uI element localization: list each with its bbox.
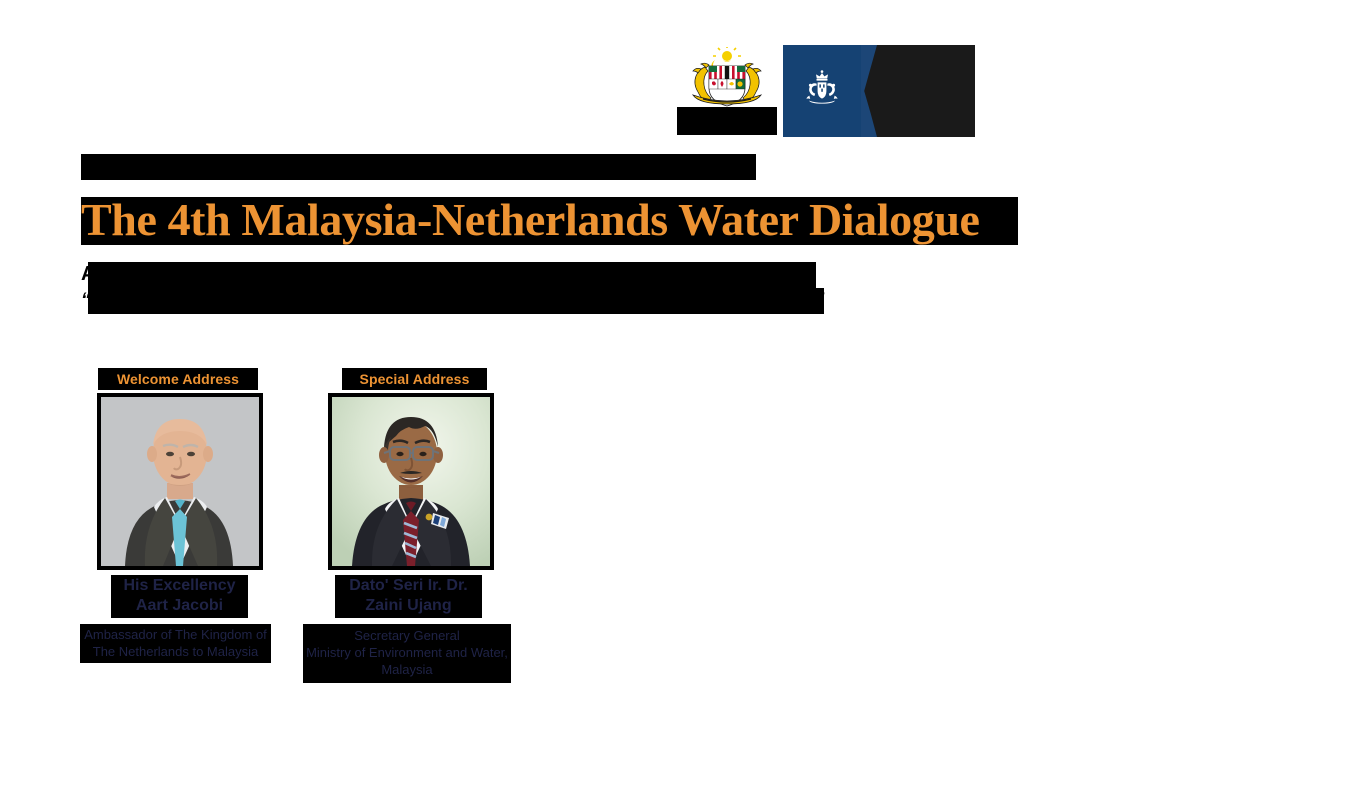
subtitle-line1-redaction [88,262,816,288]
speaker-name-band: Dato' Seri Ir. Dr. Zaini Ujang [335,575,482,618]
role-band: Special Address [342,368,487,390]
subtitle-line1: A [81,263,95,286]
speaker-role-label: Welcome Address [117,371,239,387]
speaker-title: Secretary General Ministry of Environmen… [303,627,511,678]
malaysia-coat-of-arms-logo [671,45,783,137]
speaker-name-band: His Excellency Aart Jacobi [111,575,248,618]
role-band: Welcome Address [98,368,258,390]
malaysia-logo-caption-redaction [677,107,777,135]
netherlands-lions-crest-icon [800,69,844,113]
speaker-title-band: Secretary General Ministry of Environmen… [303,624,511,683]
speaker-name: Dato' Seri Ir. Dr. Zaini Ujang [335,576,482,616]
speaker-title: Ambassador of The Kingdom of The Netherl… [80,626,271,660]
subtitle-line2-open-quote: “ [81,290,91,312]
event-poster: The 4th Malaysia-Netherlands Water Dialo… [0,0,1352,800]
subtitle-line2-close-quote: ” [815,290,825,312]
speaker-card-welcome-address: Welcome Address [79,368,279,663]
event-line-redaction [81,154,756,180]
speaker-photo-frame [328,393,494,570]
logo-band [671,45,975,137]
netherlands-government-logo [783,45,861,137]
page-title: The 4th Malaysia-Netherlands Water Dialo… [81,193,1181,247]
speaker-photo-frame [97,393,263,570]
portrait-aart-jacobi [101,397,259,566]
portrait-illustration [101,397,259,566]
third-partner-logo-redaction [861,45,975,137]
malaysia-crest-icon [671,47,783,113]
speaker-title-band: Ambassador of The Kingdom of The Netherl… [80,624,271,663]
logo-blue-wedge [861,45,877,137]
portrait-zaini-ujang [332,397,490,566]
portrait-illustration [332,397,490,566]
subtitle-line2-redaction [88,288,824,314]
speaker-name: His Excellency Aart Jacobi [111,576,248,616]
speaker-role-label: Special Address [360,371,470,387]
speaker-card-special-address: Special Address [303,368,516,683]
